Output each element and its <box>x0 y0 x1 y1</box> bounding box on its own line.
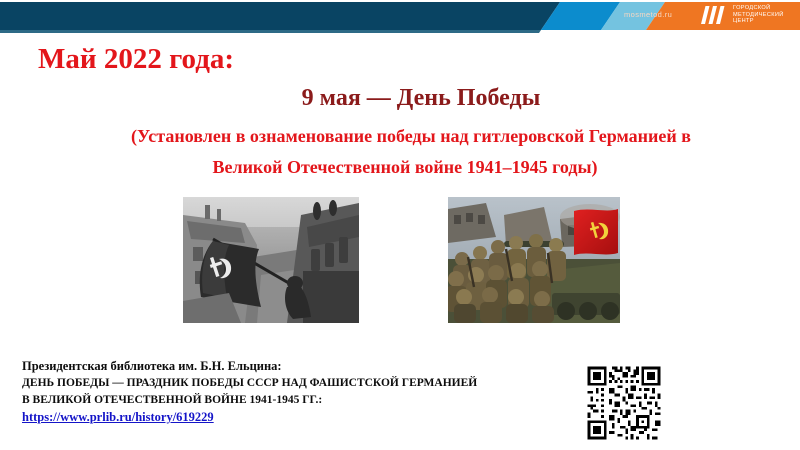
source-block: Президентская библиотека им. Б.Н. Ельцин… <box>22 358 562 426</box>
source-line-3: В ВЕЛИКОЙ ОТЕЧЕСТВЕННОЙ ВОЙНЕ 1941-1945 … <box>22 392 562 409</box>
description-line-2: Великой Отечественной войне 1941–1945 го… <box>0 157 800 178</box>
source-link[interactable]: https://www.prlib.ru/history/619229 <box>22 410 214 425</box>
photo-reichstag-flag <box>183 197 359 323</box>
source-line-1: Президентская библиотека им. Б.Н. Ельцин… <box>22 358 562 375</box>
qr-code-image <box>583 364 665 442</box>
logo-line-3: Центр <box>733 18 784 25</box>
header-banner-graphic <box>0 0 800 34</box>
photo-reichstag-flag-image <box>183 197 359 323</box>
qr-code[interactable] <box>583 364 665 442</box>
description-line-1: (Установлен в ознаменование победы над г… <box>0 126 800 147</box>
source-line-2: ДЕНЬ ПОБЕДЫ — ПРАЗДНИК ПОБЕДЫ СССР НАД Ф… <box>22 375 562 392</box>
photo-soldiers-tank <box>448 197 620 323</box>
logo-line-1: Городской <box>733 5 784 12</box>
photo-soldiers-tank-image <box>448 197 620 323</box>
page-title: Май 2022 года: <box>38 43 234 76</box>
slide-header: mosmetod.ru Городской Методический Центр <box>0 0 800 34</box>
header-site-url[interactable]: mosmetod.ru <box>624 10 672 19</box>
gmc-logo-mark-icon <box>700 5 728 25</box>
logo-line-2: Методический <box>733 12 784 19</box>
gmc-logo-text: Городской Методический Центр <box>733 5 784 25</box>
subtitle-victory-day: 9 мая — День Победы <box>0 85 800 112</box>
